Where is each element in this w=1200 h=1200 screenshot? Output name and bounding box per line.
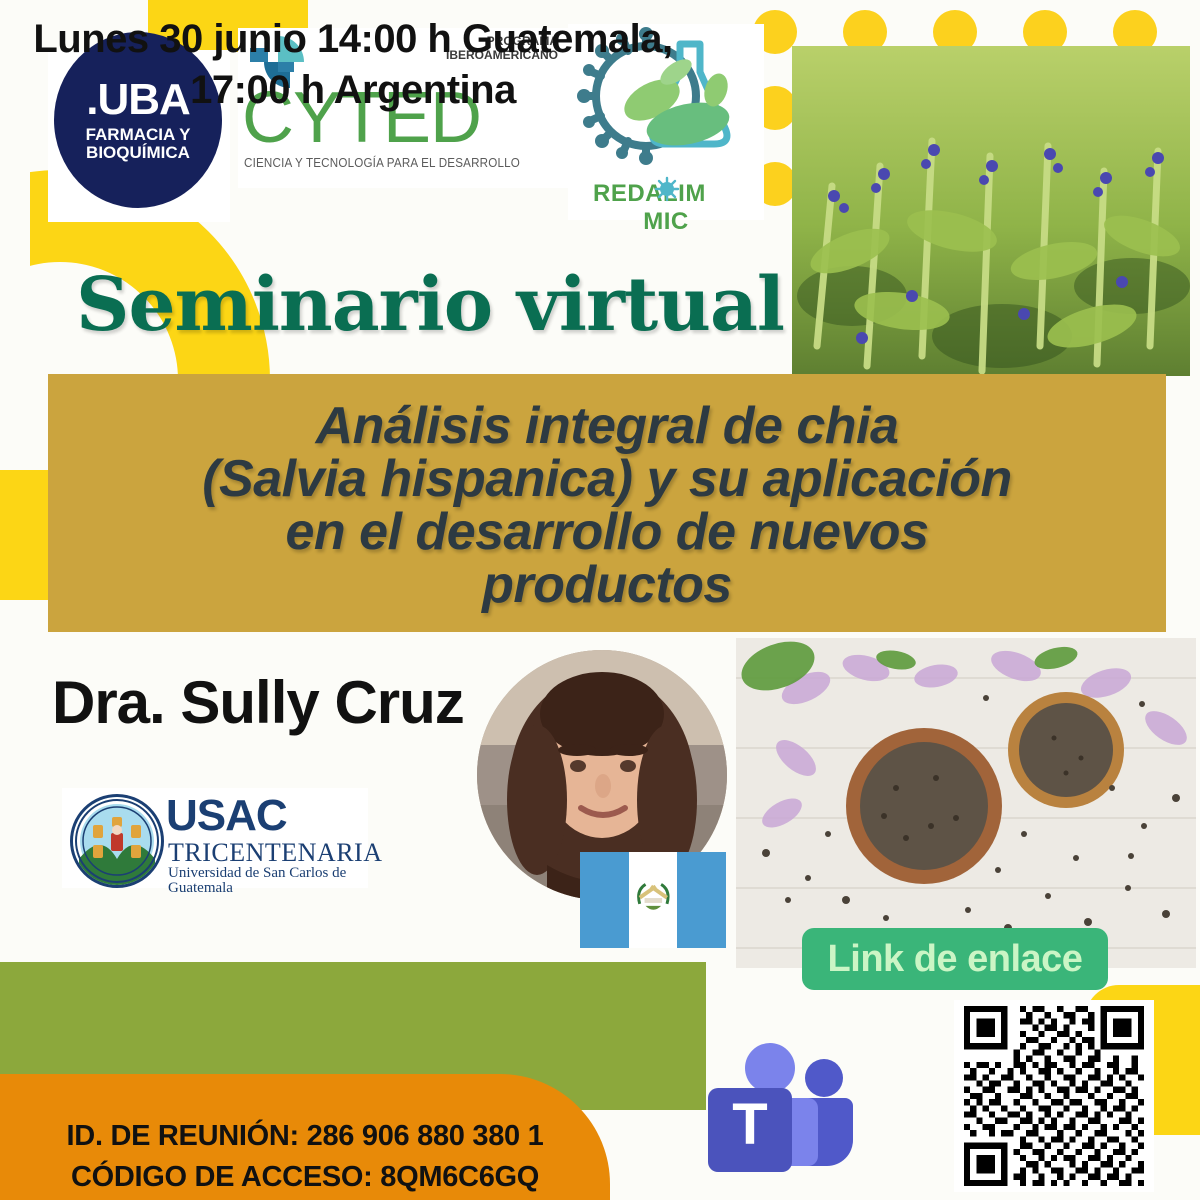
uba-subtitle: FARMACIA Y BIOQUÍMICA [86, 126, 191, 163]
schedule-text: Lunes 30 junio 14:00 h Guatemala, 17:00 … [0, 14, 706, 116]
seminar-title-block: Análisis integral de chia (Salvia hispan… [48, 374, 1166, 632]
chia-bowls-photo [736, 638, 1196, 968]
meeting-id: ID. DE REUNIÓN: 286 906 880 380 1 [0, 1116, 610, 1157]
seminar-title: Análisis integral de chia (Salvia hispan… [48, 400, 1166, 612]
speaker-name: Dra. Sully Cruz [52, 668, 464, 737]
usac-seal-icon [70, 794, 164, 888]
qr-code[interactable] [954, 1000, 1154, 1192]
link-button[interactable]: Link de enlace [802, 928, 1108, 990]
usac-wordmark: USAC [166, 794, 287, 838]
usac-university-name: Universidad de San Carlos de Guatemala [168, 866, 368, 896]
microbe-icon [654, 176, 680, 202]
guatemala-flag-icon [580, 852, 726, 948]
microsoft-teams-icon: T [700, 1040, 858, 1180]
seminar-poster: .UBA FARMACIA Y BIOQUÍMICA PROGRAMA IBER… [0, 0, 1200, 1200]
page-title: Seminario virtual [76, 262, 784, 348]
access-code: CÓDIGO DE ACCESO: 8QM6C6GQ [0, 1157, 610, 1198]
chia-plant-photo [792, 46, 1190, 376]
teams-letter: T [732, 1092, 767, 1157]
meeting-info-text: ID. DE REUNIÓN: 286 906 880 380 1 CÓDIGO… [0, 1116, 610, 1198]
usac-logo: USAC TRICENTENARIA Universidad de San Ca… [62, 788, 368, 888]
usac-tricentenaria: TRICENTENARIA [168, 840, 382, 866]
cyted-tagline: CIENCIA Y TECNOLOGÍA PARA EL DESARROLLO [244, 156, 520, 170]
